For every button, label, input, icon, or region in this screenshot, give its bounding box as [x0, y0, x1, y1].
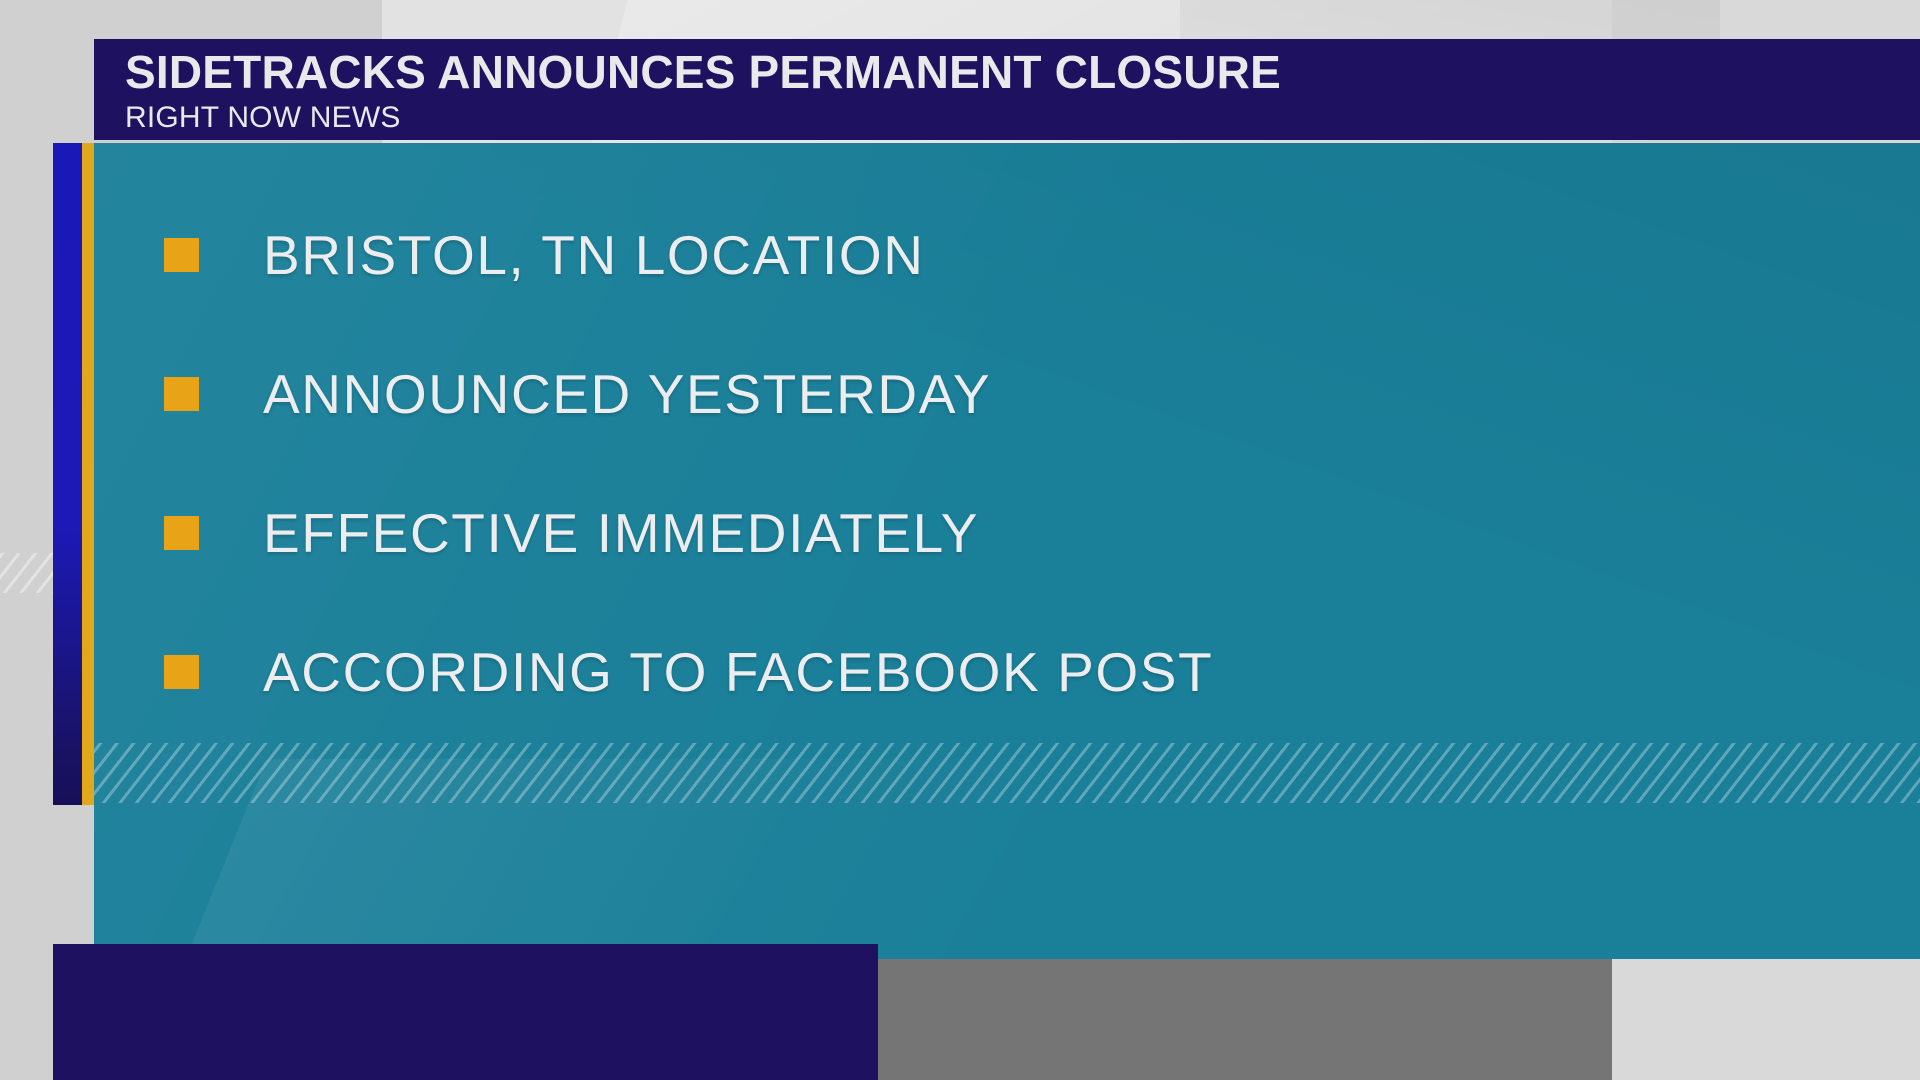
panel-diagonal-wedge — [161, 759, 1766, 959]
bullet-list: BRISTOL, TN LOCATION ANNOUNCED YESTERDAY… — [164, 185, 1864, 741]
list-item: BRISTOL, TN LOCATION — [164, 185, 1864, 324]
square-bullet-icon — [164, 377, 199, 411]
square-bullet-icon — [164, 238, 199, 272]
square-bullet-icon — [164, 516, 199, 550]
list-item-label: EFFECTIVE IMMEDIATELY — [263, 501, 979, 565]
list-item-label: BRISTOL, TN LOCATION — [263, 223, 925, 287]
program-name: RIGHT NOW NEWS — [125, 101, 401, 135]
bottom-navy-block — [53, 944, 878, 1080]
page-title: SIDETRACKS ANNOUNCES PERMANENT CLOSURE — [125, 45, 1281, 99]
headline-bar: SIDETRACKS ANNOUNCES PERMANENT CLOSURE R… — [94, 39, 1920, 140]
accent-bar-blue — [53, 143, 82, 805]
content-panel: BRISTOL, TN LOCATION ANNOUNCED YESTERDAY… — [94, 143, 1920, 959]
list-item: ACCORDING TO FACEBOOK POST — [164, 602, 1864, 741]
accent-bar-gold — [82, 143, 94, 805]
list-item: EFFECTIVE IMMEDIATELY — [164, 463, 1864, 602]
list-item: ANNOUNCED YESTERDAY — [164, 324, 1864, 463]
panel-hatch-band — [94, 743, 1920, 803]
list-item-label: ANNOUNCED YESTERDAY — [263, 362, 991, 426]
square-bullet-icon — [164, 655, 199, 689]
list-item-label: ACCORDING TO FACEBOOK POST — [263, 640, 1213, 704]
news-graphic-stage: SIDETRACKS ANNOUNCES PERMANENT CLOSURE R… — [0, 0, 1920, 1080]
